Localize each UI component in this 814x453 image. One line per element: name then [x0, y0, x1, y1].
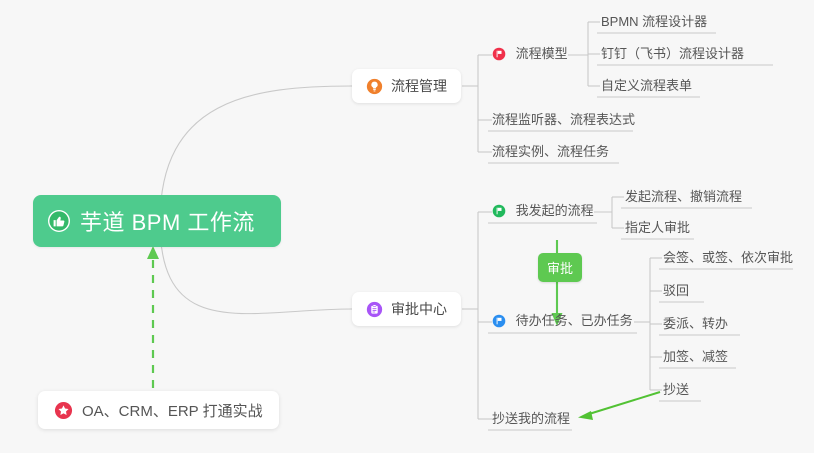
node-bpmn-designer[interactable]: BPMN 流程设计器 [601, 13, 707, 33]
flag-icon [492, 204, 506, 218]
node-label: 委派、转办 [663, 316, 728, 331]
branch-card-approval-center[interactable]: 审批中心 [352, 292, 461, 326]
node-label: 我发起的流程 [516, 203, 594, 218]
node-todo-done-task[interactable]: 待办任务、已办任务 [492, 312, 633, 332]
node-label: 驳回 [663, 283, 689, 298]
node-label: BPMN 流程设计器 [601, 14, 707, 29]
node-label: 钉钉（飞书）流程设计器 [601, 46, 744, 61]
node-label: 抄送我的流程 [492, 411, 570, 426]
branch-card-process-management[interactable]: 流程管理 [352, 69, 461, 103]
node-assignee-approval[interactable]: 指定人审批 [625, 219, 690, 239]
integration-callout-card[interactable]: OA、CRM、ERP 打通实战 [38, 391, 279, 429]
approval-badge-label: 审批 [547, 261, 573, 276]
node-reject[interactable]: 驳回 [663, 282, 689, 302]
node-my-initiated-process[interactable]: 我发起的流程 [492, 202, 594, 222]
lightbulb-icon [366, 78, 383, 95]
node-label: 自定义流程表单 [601, 78, 692, 93]
branch-label: 流程管理 [391, 76, 447, 96]
node-carbon-copy[interactable]: 抄送 [663, 381, 689, 401]
node-cc-my-process[interactable]: 抄送我的流程 [492, 410, 570, 430]
root-node[interactable]: 芋道 BPM 工作流 [33, 195, 281, 247]
node-add-remove-sign[interactable]: 加签、减签 [663, 348, 728, 368]
flag-icon [492, 47, 506, 61]
node-label: 会签、或签、依次审批 [663, 250, 793, 265]
clipboard-icon [366, 301, 383, 318]
flag-icon [492, 314, 506, 328]
node-custom-process-form[interactable]: 自定义流程表单 [601, 77, 692, 97]
node-label: 待办任务、已办任务 [516, 313, 633, 328]
node-label: 流程实例、流程任务 [492, 144, 609, 159]
node-delegate-transfer[interactable]: 委派、转办 [663, 315, 728, 335]
carbon-copy-link-arrow [578, 392, 660, 420]
node-dingtalk-feishu-designer[interactable]: 钉钉（飞书）流程设计器 [601, 45, 744, 65]
mindmap-canvas: 芋道 BPM 工作流 流程管理 审批中心 [0, 0, 814, 453]
node-process-instance[interactable]: 流程实例、流程任务 [492, 143, 609, 163]
root-label: 芋道 BPM 工作流 [80, 205, 255, 237]
node-label: 加签、减签 [663, 349, 728, 364]
star-icon [54, 401, 73, 420]
callout-label: OA、CRM、ERP 打通实战 [82, 400, 263, 421]
node-process-listener[interactable]: 流程监听器、流程表达式 [492, 111, 635, 131]
node-start-cancel-process[interactable]: 发起流程、撤销流程 [625, 188, 742, 208]
thumbs-up-icon [47, 209, 71, 233]
approval-annotation-badge[interactable]: 审批 [538, 253, 582, 282]
callout-arrow [147, 246, 159, 388]
node-countersign-or-sign[interactable]: 会签、或签、依次审批 [663, 249, 793, 269]
node-label: 流程监听器、流程表达式 [492, 112, 635, 127]
node-label: 抄送 [663, 382, 689, 397]
node-label: 发起流程、撤销流程 [625, 189, 742, 204]
branch-label: 审批中心 [391, 299, 447, 319]
node-label: 流程模型 [516, 46, 568, 61]
node-label: 指定人审批 [625, 220, 690, 235]
node-process-model[interactable]: 流程模型 [492, 45, 568, 65]
